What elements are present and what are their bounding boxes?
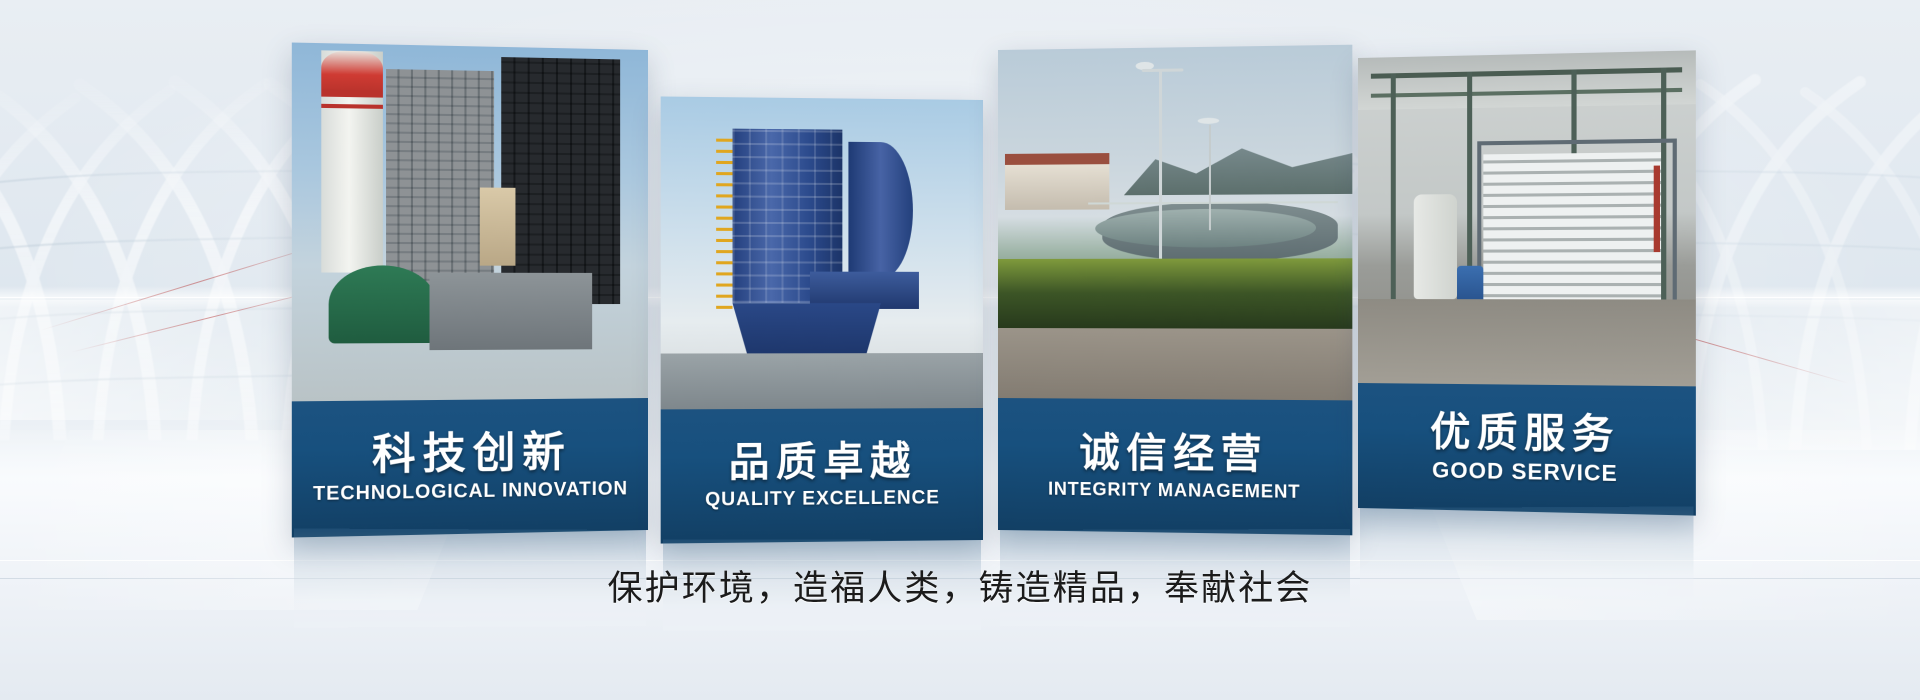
panel-quality-excellence[interactable]: 品质卓越 QUALITY EXCELLENCE <box>661 96 983 543</box>
panel-4-caption: 优质服务 GOOD SERVICE <box>1358 383 1696 516</box>
panel-2-title-en: QUALITY EXCELLENCE <box>705 488 940 509</box>
panel-3-title-en: INTEGRITY MANAGEMENT <box>1048 479 1300 500</box>
panel-4-title-cn: 优质服务 <box>1430 412 1620 455</box>
banner-stage: 科技创新 TECHNOLOGICAL INNOVATION <box>0 0 1920 700</box>
banner-tagline: 保护环境，造福人类，铸造精品，奉献社会 <box>0 560 1920 611</box>
panel-4-photo <box>1358 50 1696 386</box>
panel-2-caption: 品质卓越 QUALITY EXCELLENCE <box>661 408 983 544</box>
panel-1-caption: 科技创新 TECHNOLOGICAL INNOVATION <box>292 398 648 537</box>
panel-3-caption: 诚信经营 INTEGRITY MANAGEMENT <box>998 398 1352 535</box>
panel-integrity-management[interactable]: 诚信经营 INTEGRITY MANAGEMENT <box>998 45 1352 536</box>
panel-good-service[interactable]: 优质服务 GOOD SERVICE <box>1358 50 1696 515</box>
panel-1-photo <box>292 43 648 402</box>
panel-technological-innovation[interactable]: 科技创新 TECHNOLOGICAL INNOVATION <box>292 43 648 538</box>
panel-1-title-cn: 科技创新 <box>372 431 571 476</box>
panel-3-title-cn: 诚信经营 <box>1079 432 1268 474</box>
panel-2-photo <box>661 96 983 409</box>
panel-2-title-cn: 品质卓越 <box>729 441 917 483</box>
panel-1-title-en: TECHNOLOGICAL INNOVATION <box>313 479 628 504</box>
panel-3-photo <box>998 45 1352 401</box>
panel-4-title-en: GOOD SERVICE <box>1432 459 1618 485</box>
